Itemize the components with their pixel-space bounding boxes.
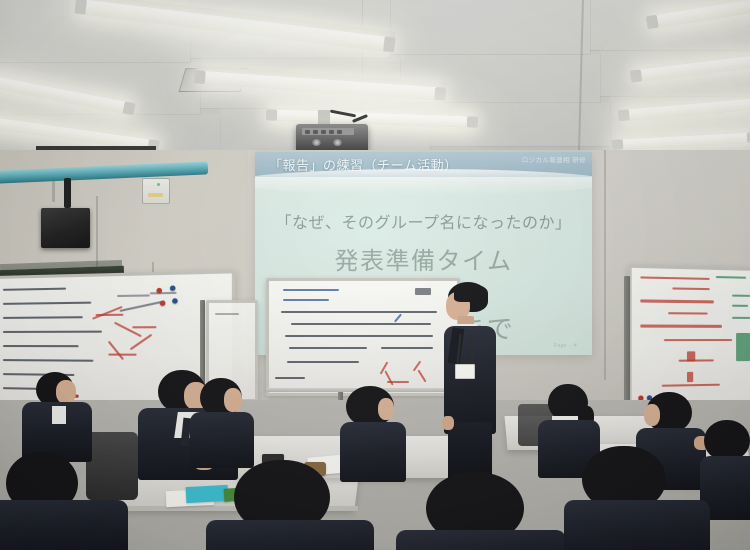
seated-attendee bbox=[0, 452, 122, 550]
right-whiteboard bbox=[628, 265, 750, 410]
seated-attendee bbox=[700, 420, 750, 510]
presenter-id-badge bbox=[455, 364, 475, 379]
wall-control-panel[interactable] bbox=[142, 178, 170, 204]
seated-attendee bbox=[206, 460, 366, 550]
slide-line-2: 発表準備タイム bbox=[255, 241, 592, 276]
seated-attendee bbox=[340, 386, 406, 470]
standing-presenter bbox=[436, 282, 516, 482]
seated-attendee bbox=[396, 472, 556, 550]
ceiling bbox=[0, 0, 750, 168]
speaker-mount bbox=[64, 178, 71, 208]
whiteboard-corner-label bbox=[415, 288, 431, 295]
slide-line-1: 「なぜ、そのグループ名になったのか」 bbox=[255, 209, 592, 233]
center-whiteboard bbox=[266, 278, 460, 396]
slide-brand-label: ロジカル報連相 研修 bbox=[522, 154, 586, 164]
presenter-hand bbox=[442, 416, 454, 430]
seated-attendee bbox=[22, 372, 92, 462]
slide-footer: Page - ＊ bbox=[554, 342, 578, 349]
wall-speaker bbox=[41, 208, 90, 248]
seated-attendee bbox=[190, 378, 254, 458]
classroom-photo-scene: 「報告」の練習（チーム活動） ロジカル報連相 研修 「なぜ、そのグループ名になっ… bbox=[0, 0, 750, 550]
seated-attendee bbox=[568, 446, 698, 550]
whiteboard-leg bbox=[624, 276, 630, 404]
